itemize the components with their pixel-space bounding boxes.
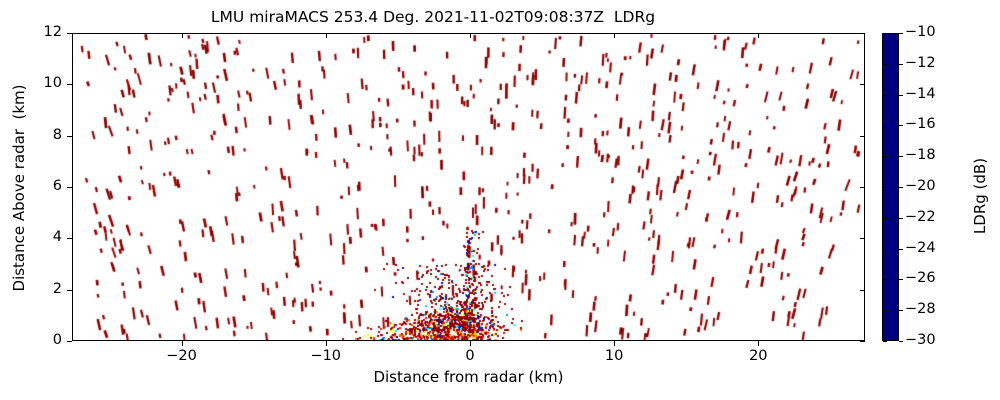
y-tick [67,238,72,239]
x-tick [758,341,759,346]
colorbar-tick [899,125,903,126]
colorbar-tick-inner [883,218,887,219]
colorbar-tick-label: −14 [905,86,936,102]
x-tick-top [758,33,759,38]
colorbar-tick-label: −22 [905,209,936,225]
radar-ldrg-figure: LMU miraMACS 253.4 Deg. 2021-11-02T09:08… [0,0,1000,400]
y-tick-right [860,33,865,34]
colorbar-tick-inner [883,310,887,311]
colorbar-tick [899,218,903,219]
colorbar-tick-label: −20 [905,178,936,194]
colorbar-tick-inner [883,156,887,157]
colorbar-tick [899,341,903,342]
x-tick-top [182,33,183,38]
x-tick [182,341,183,346]
colorbar-tick-inner [883,187,887,188]
colorbar-tick-label: −18 [905,147,936,163]
colorbar-tick-inner [883,95,887,96]
colorbar-tick-label: −30 [905,332,936,348]
page-title: LMU miraMACS 253.4 Deg. 2021-11-02T09:08… [0,8,866,26]
x-axis-label: Distance from radar (km) [72,368,865,386]
colorbar-tick-inner [883,249,887,250]
y-tick [67,84,72,85]
colorbar-tick [899,156,903,157]
scatter-data-layer [73,34,865,341]
colorbar-tick-label: −26 [905,270,936,286]
x-tick [614,341,615,346]
plot-axes [72,33,865,341]
colorbar-tick [899,187,903,188]
y-tick-right [860,238,865,239]
colorbar-tick [899,310,903,311]
x-tick-label: 0 [440,348,500,364]
colorbar-tick-inner [883,64,887,65]
x-tick-top [470,33,471,38]
y-axis-label: Distance Above radar (km) [10,33,28,343]
colorbar-tick-label: −10 [905,24,936,40]
y-tick [67,136,72,137]
y-tick [67,187,72,188]
x-tick [470,341,471,346]
y-tick [67,341,72,342]
y-tick-right [860,341,865,342]
x-tick-label: 10 [584,348,644,364]
colorbar-tick-inner [883,341,887,342]
colorbar-tick-inner [883,33,887,34]
y-tick-right [860,84,865,85]
colorbar-tick [899,64,903,65]
colorbar-label: LDRg (dB) [971,41,989,351]
colorbar-tick [899,95,903,96]
y-tick-right [860,187,865,188]
x-tick-label: −10 [296,348,356,364]
colorbar-tick [899,279,903,280]
x-tick [326,341,327,346]
colorbar-tick [899,33,903,34]
colorbar-tick-label: −16 [905,116,936,132]
x-tick-top [614,33,615,38]
colorbar-tick-inner [883,125,887,126]
colorbar-tick [899,249,903,250]
colorbar-tick-label: −24 [905,240,936,256]
y-tick-right [860,136,865,137]
y-tick [67,33,72,34]
x-tick-top [326,33,327,38]
x-tick-label: 20 [728,348,788,364]
colorbar-tick-label: −12 [905,55,936,71]
colorbar-tick-inner [883,279,887,280]
y-tick-right [860,290,865,291]
y-tick [67,290,72,291]
colorbar-tick-label: −28 [905,301,936,317]
x-tick-label: −20 [152,348,212,364]
